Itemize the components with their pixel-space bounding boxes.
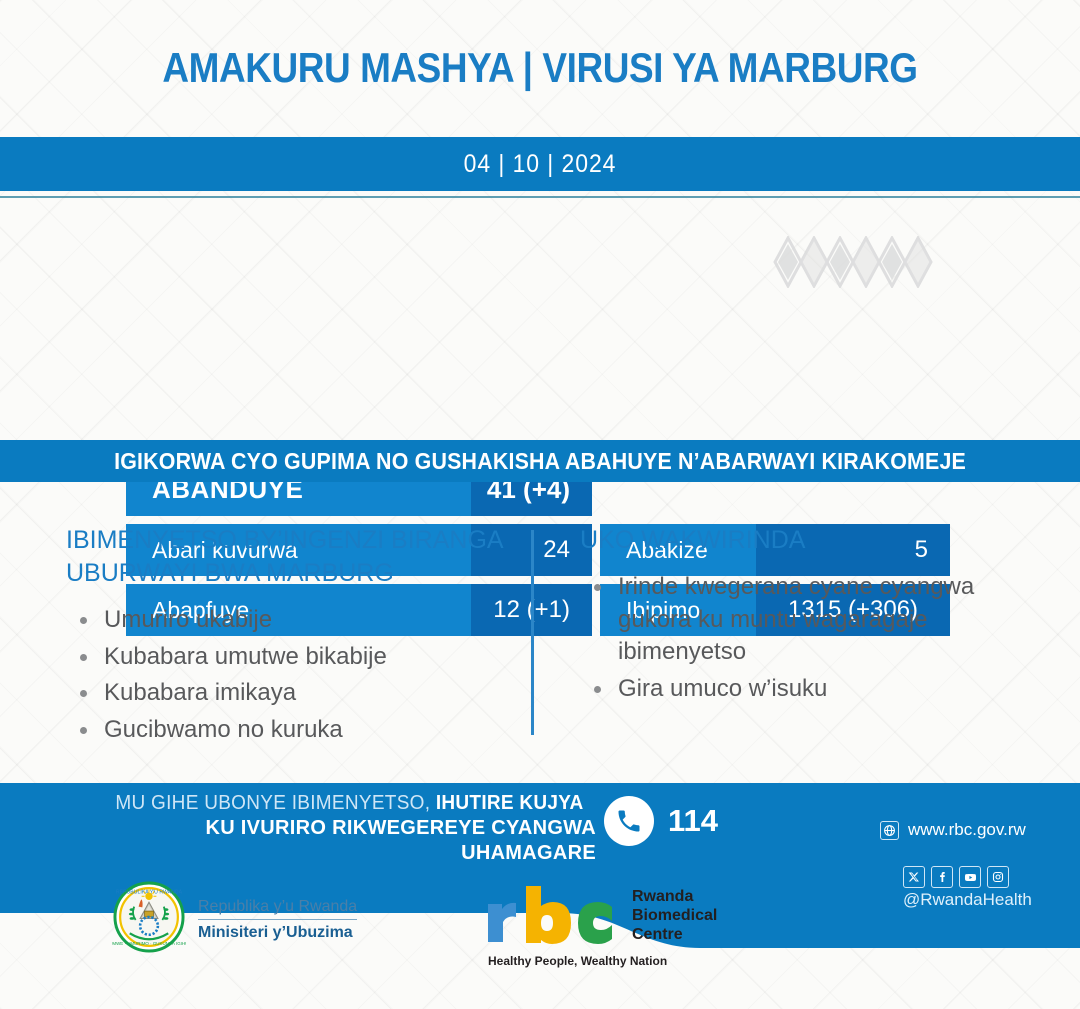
phone-number: 114 [668,803,718,839]
symptoms-heading: IBIMENYETSO BY’INGENZI BIRANGA UBURWAYI … [66,524,518,590]
rbc-line-2: Biomedical [632,907,717,926]
rbc-name-text: Rwanda Biomedical Centre [632,884,717,945]
cta-line-1-light: MU GIHE UBONYE IBIMENYETSO, [115,792,430,814]
list-item: Irinde kwegerana cyane cyangwa gukora ku… [580,571,1026,669]
list-item: Gucibwamo no kuruka [66,714,518,747]
testing-banner: IGIKORWA CYO GUPIMA NO GUSHAKISHA ABAHUY… [0,440,1080,482]
list-item: Kubabara umutwe bikabije [66,641,518,674]
rbc-logo: Rwanda Biomedical Centre Healthy People,… [484,884,717,968]
rbc-tagline: Healthy People, Wealthy Nation [484,954,717,968]
date-text: 04 | 10 | 2024 [464,150,617,179]
globe-icon [880,821,899,840]
prevention-list: Irinde kwegerana cyane cyangwa gukora ku… [580,571,1026,706]
cta-line-1-bold: IHUTIRE KUJYA [436,792,584,814]
svg-text:UBUMWE · UMURIMO · GUKUNDA IGI: UBUMWE · UMURIMO · GUKUNDA IGIHUGU [112,941,186,946]
rbc-line-1: Rwanda [632,888,717,907]
list-item: Kubabara imikaya [66,677,518,710]
rbc-wordmark-icon [484,884,620,951]
date-band: 04 | 10 | 2024 [0,137,1080,191]
website-url: www.rbc.gov.rw [908,820,1026,840]
website-link[interactable]: www.rbc.gov.rw [880,820,1026,840]
ministry-line-2: Minisiteri y’Ubuzima [198,920,357,943]
ministry-of-health-logo: REPUBULIKA Y'U RWANDA [112,880,357,959]
cta-line-2: KU IVURIRO RIKWEGEREYE CYANGWA UHAMAGARE [96,816,596,866]
x-icon[interactable] [903,866,925,888]
youtube-icon[interactable] [959,866,981,888]
social-links[interactable] [903,866,1009,888]
social-handle: @RwandaHealth [903,890,1032,910]
page-title: AMAKURU MASHYA | VIRUSI YA MARBURG [65,44,1015,92]
list-item: Umuriro ukabije [66,604,518,637]
ministry-logo-text: Republika y’u Rwanda Minisiteri y’Ubuzim… [198,897,357,943]
footer-call-to-action: MU GIHE UBONYE IBIMENYETSO, IHUTIRE KUJY… [96,791,596,866]
symptoms-column: IBIMENYETSO BY’INGENZI BIRANGA UBURWAYI … [66,524,518,751]
cta-line-1: MU GIHE UBONYE IBIMENYETSO, IHUTIRE KUJY… [109,791,584,816]
column-divider [531,530,534,735]
phone-icon [604,796,654,846]
phone-contact[interactable]: 114 [604,796,718,846]
list-item: Gira umuco w’isuku [580,673,1026,706]
instagram-icon[interactable] [987,866,1009,888]
symptoms-list: Umuriro ukabije Kubabara umutwe bikabije… [66,604,518,747]
testing-banner-text: IGIKORWA CYO GUPIMA NO GUSHAKISHA ABAHUY… [114,448,966,475]
ministry-line-1: Republika y’u Rwanda [198,897,357,920]
header-divider [0,196,1080,198]
prevention-column: UKO WAKWIRINDA Irinde kwegerana cyane cy… [580,524,1026,710]
rbc-line-3: Centre [632,926,717,945]
facebook-icon[interactable] [931,866,953,888]
statistics-panel: ABANDUYE 41 (+4) Abari kuvurwa 24 Abapfu… [0,230,1080,410]
prevention-heading: UKO WAKWIRINDA [580,524,1026,557]
rwanda-coat-of-arms-icon: REPUBULIKA Y'U RWANDA [112,880,186,959]
